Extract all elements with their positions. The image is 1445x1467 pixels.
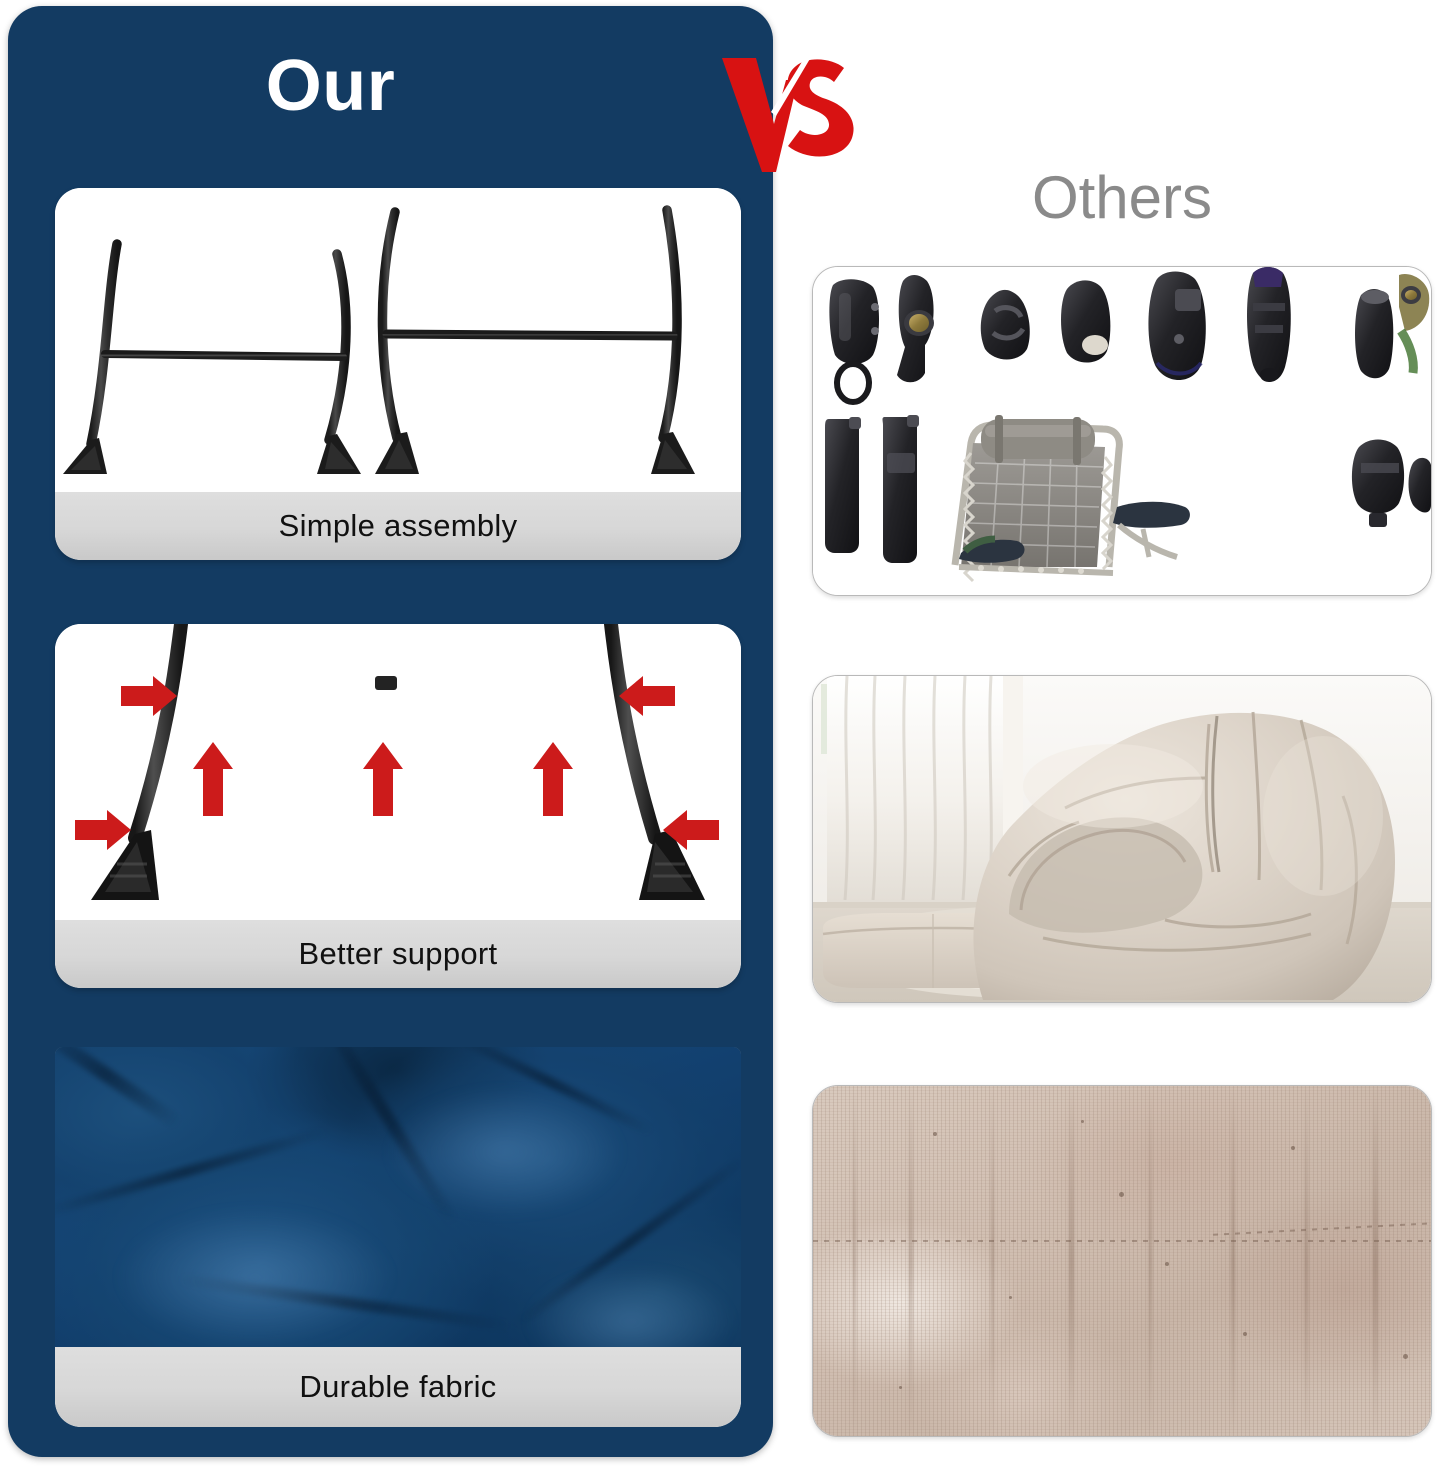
worn-linen-texture bbox=[813, 1086, 1431, 1436]
others-heading: Others bbox=[812, 168, 1432, 228]
chair-frame-illustration bbox=[55, 188, 741, 492]
scattered-chair-parts-photo bbox=[813, 267, 1431, 595]
our-card-caption: Durable fabric bbox=[55, 1347, 741, 1427]
our-card-durable-fabric: Durable fabric bbox=[55, 1047, 741, 1427]
blue-cushion-texture bbox=[55, 1047, 741, 1347]
our-card-caption: Simple assembly bbox=[55, 492, 741, 560]
scattered-parts-illustration bbox=[813, 267, 1431, 595]
beanbag-room-illustration bbox=[813, 676, 1431, 1002]
other-card-beanbag bbox=[812, 675, 1432, 1003]
blue-cushion-fabric-photo bbox=[55, 1047, 741, 1347]
frame-support-arrows-photo bbox=[55, 624, 741, 920]
frame-support-illustration bbox=[55, 624, 741, 920]
our-card-caption: Better support bbox=[55, 920, 741, 988]
our-heading: Our bbox=[8, 50, 773, 122]
worn-linen-fabric-photo bbox=[813, 1086, 1431, 1436]
our-panel: Our bbox=[8, 6, 773, 1457]
comparison-infographic: Our bbox=[0, 0, 1445, 1467]
other-card-scattered-parts bbox=[812, 266, 1432, 596]
our-card-simple-assembly: Simple assembly bbox=[55, 188, 741, 560]
chair-frame-legs-photo bbox=[55, 188, 741, 492]
beige-beanbag-chair-photo bbox=[813, 676, 1431, 1002]
other-card-worn-fabric bbox=[812, 1085, 1432, 1437]
our-card-better-support: Better support bbox=[55, 624, 741, 988]
